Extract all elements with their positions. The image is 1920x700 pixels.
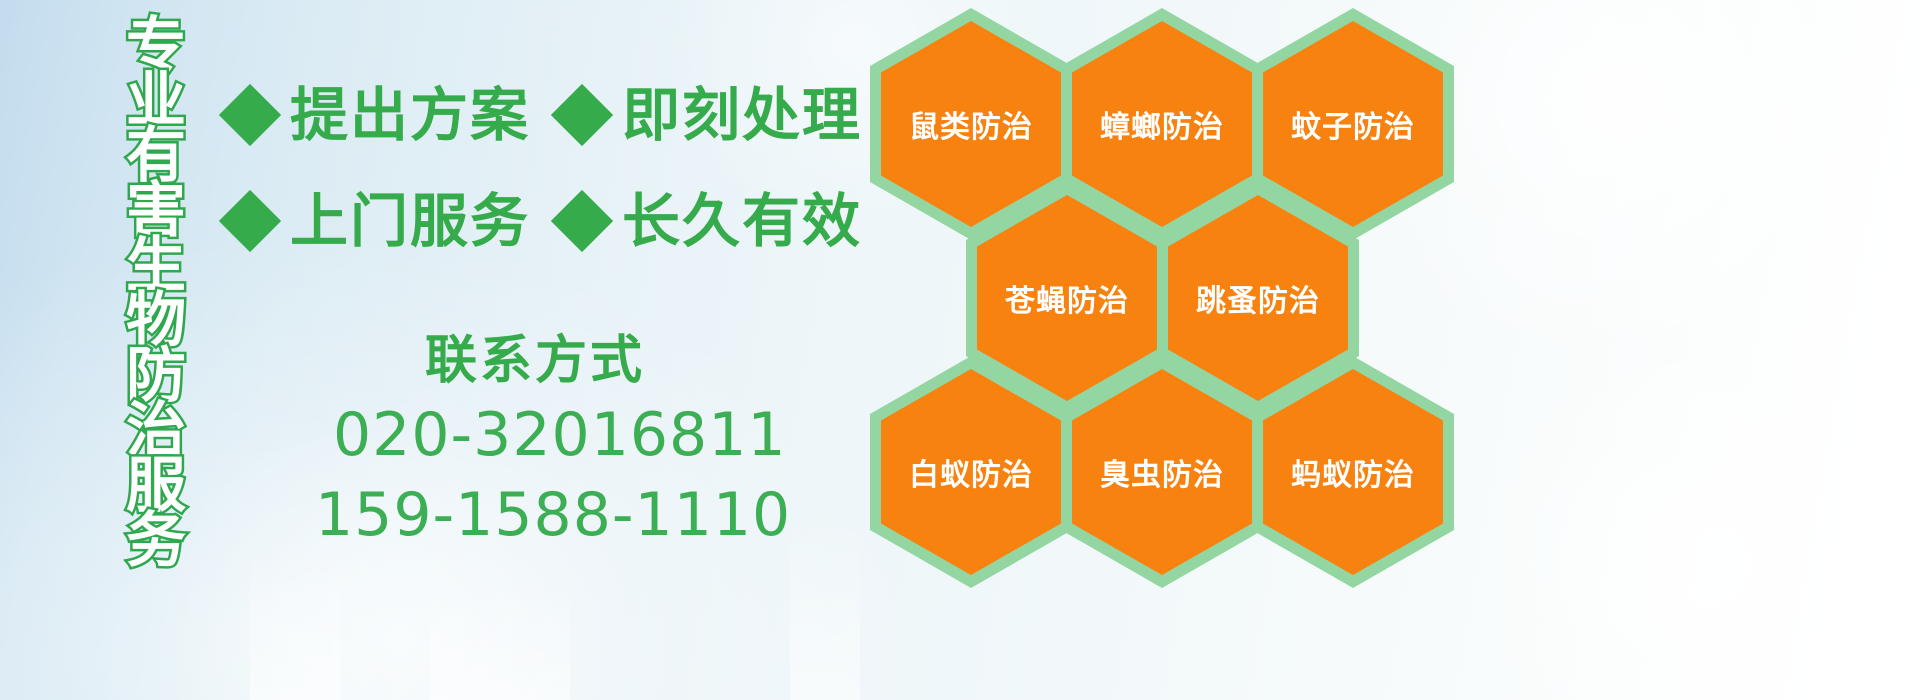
diamond-icon (219, 84, 281, 146)
vertical-title-char: 务 (126, 513, 186, 568)
feature-row-2: 上门服务 长久有效 (228, 192, 862, 250)
hex-label: 臭虫防治 (1100, 450, 1224, 494)
feature-label: 即刻处理 (622, 86, 862, 144)
background-streak (430, 580, 570, 700)
feature-item: 长久有效 (560, 192, 862, 250)
vertical-title-char: 害 (126, 183, 186, 238)
vertical-title-char: 防 (126, 348, 186, 403)
vertical-title-char: 物 (126, 293, 186, 348)
vertical-title: 专 业 有 害 生 物 防 治 服 务 (108, 18, 204, 568)
background-glow-bottom-right (1450, 330, 1920, 700)
vertical-title-char: 生 (126, 238, 186, 293)
feature-label: 提出方案 (290, 86, 530, 144)
feature-row-1: 提出方案 即刻处理 (228, 86, 862, 144)
background-glow-bottom-left (120, 430, 680, 700)
diamond-icon (219, 190, 281, 252)
vertical-title-char: 专 (126, 18, 186, 73)
hex-label: 蚂蚁防治 (1291, 450, 1415, 494)
hex-label: 鼠类防治 (909, 102, 1033, 146)
hex-label: 苍蝇防治 (1005, 276, 1129, 320)
feature-item: 即刻处理 (560, 86, 862, 144)
phone-number-landline[interactable]: 020-32016811 (333, 400, 787, 470)
feature-label: 上门服务 (290, 192, 530, 250)
feature-item: 提出方案 (228, 86, 530, 144)
hex-label: 蚊子防治 (1291, 102, 1415, 146)
vertical-title-char: 服 (126, 458, 186, 513)
feature-item: 上门服务 (228, 192, 530, 250)
banner-canvas: 专 业 有 害 生 物 防 治 服 务 提出方案 即刻处理 上门服务 长久有效 (0, 0, 1920, 700)
feature-label: 长久有效 (622, 192, 862, 250)
hex-label: 跳蚤防治 (1196, 276, 1320, 320)
diamond-icon (551, 84, 613, 146)
vertical-title-char: 业 (126, 73, 186, 128)
hex-cell[interactable]: 蚂蚁防治 (1252, 356, 1454, 588)
background-streak (250, 550, 340, 700)
diamond-icon (551, 190, 613, 252)
service-honeycomb: 鼠类防治蟑螂防治蚊子防治苍蝇防治跳蚤防治白蚁防治臭虫防治蚂蚁防治 (862, 0, 1462, 560)
vertical-title-char: 治 (126, 403, 186, 458)
vertical-title-char: 有 (126, 128, 186, 183)
hex-cell[interactable]: 白蚁防治 (870, 356, 1072, 588)
phone-number-mobile[interactable]: 159-1588-1110 (315, 480, 791, 550)
contact-heading: 联系方式 (425, 318, 645, 393)
hex-label: 白蚁防治 (909, 450, 1033, 494)
background-streak (790, 520, 860, 700)
hex-cell[interactable]: 臭虫防治 (1061, 356, 1263, 588)
hex-label: 蟑螂防治 (1100, 102, 1224, 146)
